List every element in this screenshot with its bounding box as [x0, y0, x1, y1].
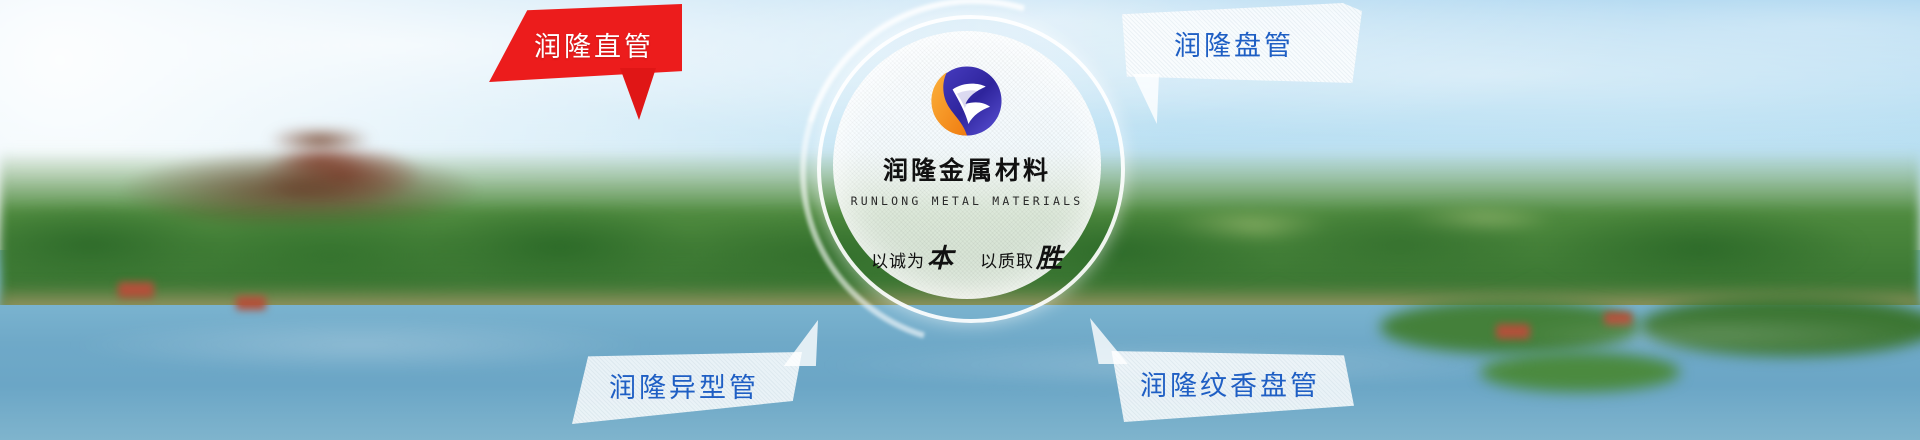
callout-coil-pipe[interactable]: 润隆盘管 [1122, 3, 1362, 83]
runlong-swirl-logo-icon [928, 65, 1006, 137]
slogan-left: 以诚为 本 [871, 238, 954, 275]
brand-name-cn: 润隆金属材料 [883, 151, 1051, 187]
callout-label-pattern: 润隆纹香盘管 [1140, 364, 1320, 403]
brand-logo-block: 润隆金属材料 RUNLONG METAL MATERIALS 以诚为 本 以质取… [833, 55, 1101, 275]
callout-label-straight: 润隆直管 [534, 25, 654, 64]
callout-shaped-pipe[interactable]: 润隆异型管 [572, 352, 802, 424]
brand-slogan: 以诚为 本 以质取 胜 [871, 238, 1063, 275]
slogan-left-prefix: 以诚为 [871, 247, 925, 272]
brand-name-en: RUNLONG METAL MATERIALS [851, 194, 1084, 208]
callout-label-shaped: 润隆异型管 [609, 366, 759, 405]
hero-banner: 润隆金属材料 RUNLONG METAL MATERIALS 以诚为 本 以质取… [0, 0, 1920, 440]
rooftop [118, 282, 154, 298]
slogan-right-prefix: 以质取 [980, 247, 1034, 272]
callout-label-coil: 润隆盘管 [1174, 24, 1294, 63]
slogan-right-accent: 胜 [1036, 238, 1063, 275]
slogan-right: 以质取 胜 [980, 238, 1063, 275]
callout-pattern-coil-pipe[interactable]: 润隆纹香盘管 [1104, 348, 1354, 422]
slogan-left-accent: 本 [927, 238, 954, 275]
